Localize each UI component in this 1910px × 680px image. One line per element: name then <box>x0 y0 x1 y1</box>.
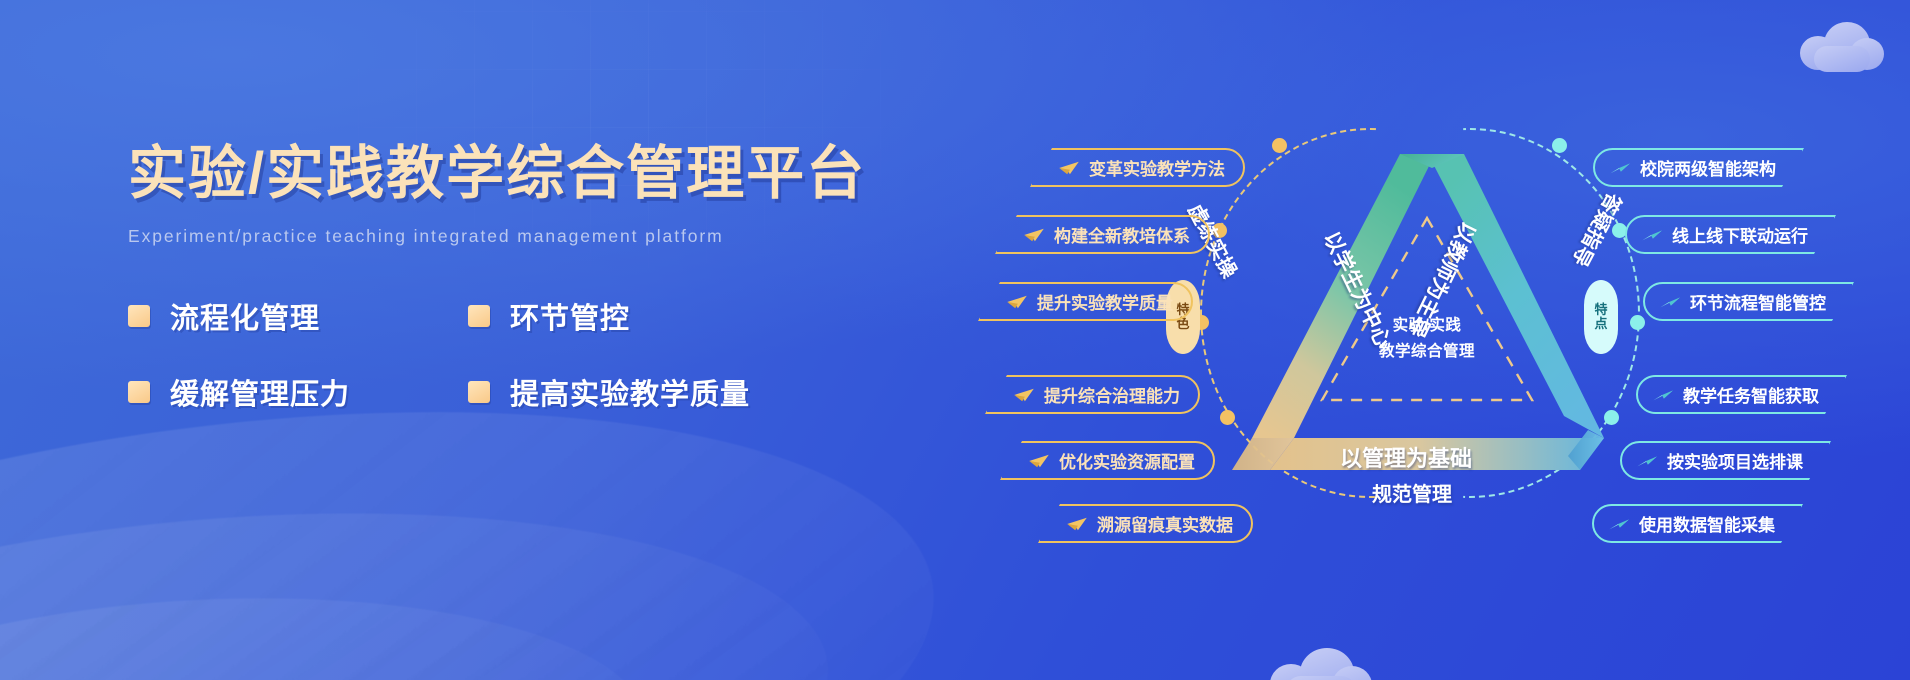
list-item: 流程化管理 <box>128 295 468 337</box>
hero-banner: 实验/实践教学综合管理平台 Experiment/practice teachi… <box>0 0 1910 680</box>
paper-plane-icon <box>1066 516 1088 532</box>
paper-plane-icon <box>1013 387 1035 403</box>
callout-label: 优化实验资源配置 <box>1059 448 1195 473</box>
callout-left-3[interactable]: 提升实验教学质量 <box>978 282 1193 321</box>
bullet-label: 流程化管理 <box>170 295 320 337</box>
callout-right-3[interactable]: 环节流程智能管控 <box>1643 282 1854 321</box>
paper-plane-icon <box>1608 516 1630 532</box>
list-item: 缓解管理压力 <box>128 371 468 413</box>
callout-right-1[interactable]: 校院两级智能架构 <box>1593 148 1804 187</box>
paper-plane-icon <box>1058 160 1080 176</box>
callout-label: 提升实验教学质量 <box>1037 289 1173 314</box>
bullet-label: 环节管控 <box>510 295 630 337</box>
cloud-bottom-center <box>1270 648 1380 680</box>
callout-label: 线上线下联动运行 <box>1672 222 1808 247</box>
callout-label: 溯源留痕真实数据 <box>1097 511 1233 536</box>
callout-left-6[interactable]: 溯源留痕真实数据 <box>1038 504 1253 543</box>
callout-label: 环节流程智能管控 <box>1690 289 1826 314</box>
paper-plane-icon <box>1609 160 1631 176</box>
paper-plane-icon <box>1659 294 1681 310</box>
center-label-line2: 教学综合管理 <box>1232 340 1622 364</box>
list-item: 提高实验教学质量 <box>468 371 808 413</box>
arc-dot-cyan <box>1630 315 1645 330</box>
page-title: 实验/实践教学综合管理平台 <box>128 140 968 208</box>
paper-plane-icon <box>1652 387 1674 403</box>
callout-label: 校院两级智能架构 <box>1640 155 1776 180</box>
paper-plane-icon <box>1636 453 1658 469</box>
callout-right-2[interactable]: 线上线下联动运行 <box>1625 215 1836 254</box>
bullet-square-icon <box>128 305 150 327</box>
hero-text-block: 实验/实践教学综合管理平台 Experiment/practice teachi… <box>128 140 968 413</box>
page-subtitle: Experiment/practice teaching integrated … <box>128 226 968 247</box>
bullet-square-icon <box>468 381 490 403</box>
bullet-square-icon <box>128 381 150 403</box>
callout-left-4[interactable]: 提升综合治理能力 <box>985 375 1200 414</box>
callout-label: 变革实验教学方法 <box>1089 155 1225 180</box>
callout-right-4[interactable]: 教学任务智能获取 <box>1636 375 1847 414</box>
list-item: 环节管控 <box>468 295 808 337</box>
callout-label: 使用数据智能采集 <box>1639 511 1775 536</box>
paper-plane-icon <box>1006 294 1028 310</box>
callout-right-6[interactable]: 使用数据智能采集 <box>1592 504 1803 543</box>
center-label-line1: 实验/实践 <box>1232 314 1622 338</box>
bullet-label: 缓解管理压力 <box>170 371 350 413</box>
bullet-label: 提高实验教学质量 <box>510 371 750 413</box>
callout-label: 教学任务智能获取 <box>1683 382 1819 407</box>
edge-label-base: 以管理为基础 <box>1340 441 1472 473</box>
feature-bullet-list: 流程化管理 环节管控 缓解管理压力 提高实验教学质量 <box>128 295 968 413</box>
callout-left-2[interactable]: 构建全新教培体系 <box>995 215 1210 254</box>
paper-plane-icon <box>1641 227 1663 243</box>
impossible-triangle: 以学生为中心 以教师为主导 以管理为基础 实验/实践 教学综合管理 <box>1232 138 1622 483</box>
bullet-square-icon <box>468 305 490 327</box>
callout-label: 构建全新教培体系 <box>1054 222 1190 247</box>
callout-label: 提升综合治理能力 <box>1044 382 1180 407</box>
paper-plane-icon <box>1028 453 1050 469</box>
paper-plane-icon <box>1023 227 1045 243</box>
callout-label: 按实验项目选排课 <box>1667 448 1803 473</box>
callout-right-5[interactable]: 按实验项目选排课 <box>1620 441 1831 480</box>
cloud-top-right <box>1800 22 1890 74</box>
callout-left-5[interactable]: 优化实验资源配置 <box>1000 441 1215 480</box>
callout-left-1[interactable]: 变革实验教学方法 <box>1030 148 1245 187</box>
